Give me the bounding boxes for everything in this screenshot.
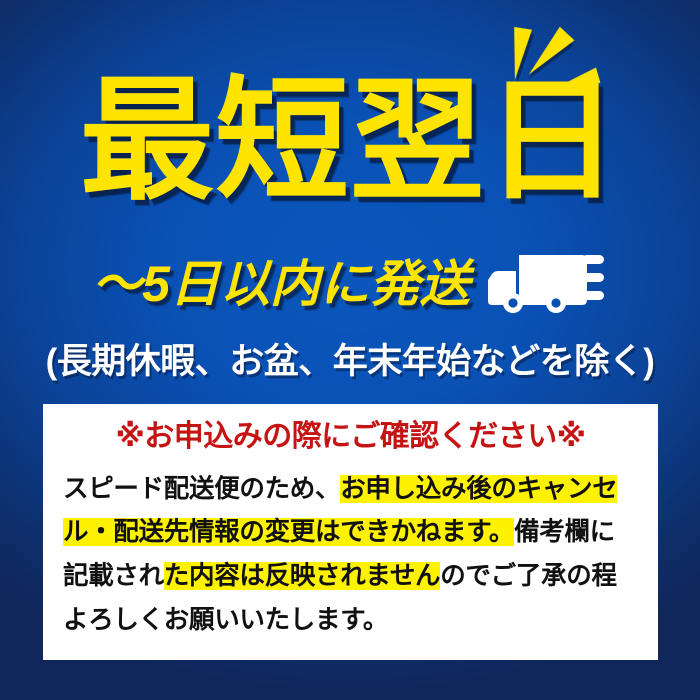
notice-body: スピード配送便のため、お申し込み後のキャンセル・配送先情報の変更はできかねます。… — [61, 468, 640, 643]
notice-body-segment: スピード配送便のため、 — [63, 475, 340, 503]
notice-card: ※お申込みの際にご確認ください※ スピード配送便のため、お申し込み後のキャンセル… — [43, 404, 658, 660]
promotional-banner: 最短翌日 〜5日以内に発送 (長期休暇、お盆、年末 — [0, 0, 700, 700]
notice-body-segment-highlighted: た内容は反映されません — [164, 562, 440, 590]
exclusion-note-text: (長期休暇、お盆、年末年始などを除く) — [0, 333, 700, 384]
notice-heading: ※お申込みの際にご確認ください※ — [61, 418, 640, 456]
subtitle-row: 〜5日以内に発送 — [0, 243, 700, 317]
headline-text: 最短翌日 — [0, 74, 700, 211]
subtitle-text: 〜5日以内に発送 — [92, 244, 470, 316]
delivery-truck-icon — [486, 247, 608, 313]
